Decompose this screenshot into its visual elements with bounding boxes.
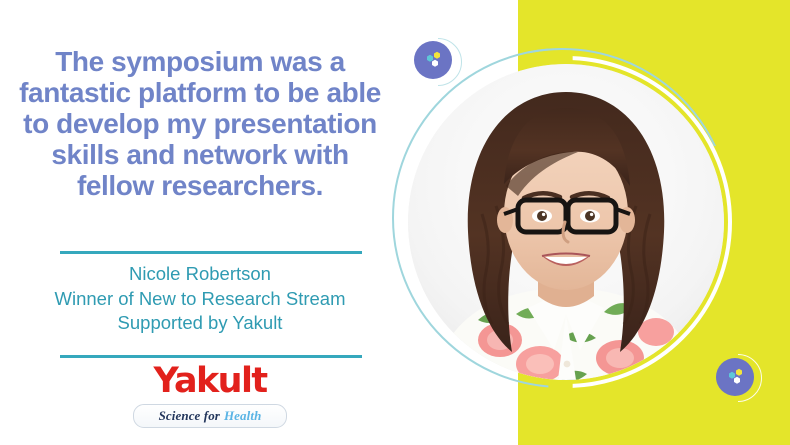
- yakult-wordmark: Yakult: [110, 362, 310, 400]
- yakult-logo: Yakult Science for Health: [110, 362, 310, 428]
- attribution-award: Winner of New to Research Stream: [20, 287, 380, 312]
- left-content: The symposium was a fantastic platform t…: [0, 0, 400, 445]
- tagline-primary: Science for: [159, 408, 220, 424]
- attribution-sponsor: Supported by Yakult: [20, 311, 380, 336]
- molecule-badge-icon: [414, 41, 452, 79]
- yakult-tagline-pill: Science for Health: [133, 404, 287, 428]
- molecule-badge-icon: [716, 358, 754, 396]
- testimonial-card: The symposium was a fantastic platform t…: [0, 0, 790, 445]
- divider-top: [60, 251, 362, 254]
- tagline-accent: Health: [224, 408, 261, 424]
- portrait-photo: [408, 64, 724, 380]
- attribution-name: Nicole Robertson: [20, 262, 380, 287]
- quote-text: The symposium was a fantastic platform t…: [14, 46, 386, 201]
- divider-bottom: [60, 355, 362, 358]
- attribution-block: Nicole Robertson Winner of New to Resear…: [20, 262, 380, 336]
